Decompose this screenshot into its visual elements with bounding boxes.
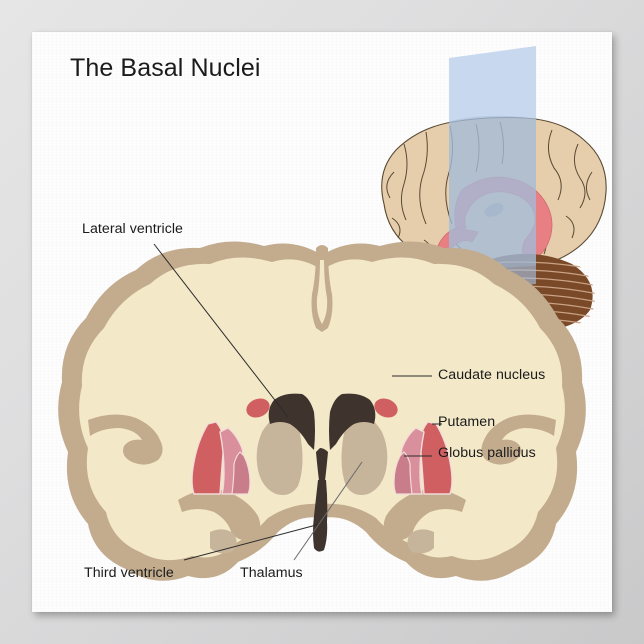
label-putamen: Putamen	[438, 414, 495, 430]
anatomy-illustration	[32, 32, 612, 612]
label-caudate-nucleus: Caudate nucleus	[438, 367, 545, 383]
label-globus-pallidus: Globus pallidus	[438, 445, 536, 461]
inferior-nucleus-right	[407, 529, 434, 553]
label-third-ventricle: Third ventricle	[84, 565, 174, 581]
label-thalamus: Thalamus	[240, 565, 303, 581]
poster-sheet: The Basal Nuclei	[32, 32, 612, 612]
label-lateral-ventricle: Lateral ventricle	[82, 221, 183, 237]
poster-stage: The Basal Nuclei	[0, 0, 644, 644]
coronal-section	[58, 241, 586, 580]
